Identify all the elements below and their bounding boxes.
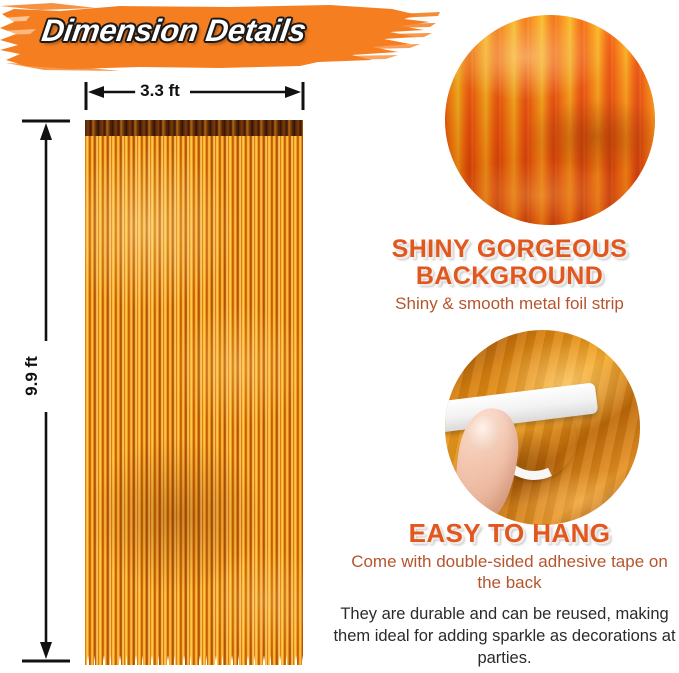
curtain-fringe-strips xyxy=(85,132,303,665)
height-arrow-bottom xyxy=(40,642,52,659)
curtain-top-header-band xyxy=(85,120,303,136)
closing-paragraph: They are durable and can be reused, maki… xyxy=(330,604,679,670)
feature-image-shiny-background xyxy=(445,15,655,225)
feature-title-shiny: SHINY GORGEOUS BACKGROUND xyxy=(340,236,679,290)
feature-column: SHINY GORGEOUS BACKGROUND Shiny & smooth… xyxy=(340,0,679,673)
feature-title-easy-to-hang: EASY TO HANG xyxy=(340,519,679,547)
feature-image-easy-to-hang xyxy=(445,330,640,525)
height-arrow-top xyxy=(40,123,52,140)
width-dimension-label: 3.3 ft xyxy=(135,81,185,101)
product-curtain-image xyxy=(85,120,303,665)
width-arrow-right xyxy=(285,86,301,98)
dimension-diagram: 3.3 ft 9.9 ft xyxy=(0,76,340,673)
feature-subtitle-easy-to-hang: Come with double-sided adhesive tape on … xyxy=(340,552,679,593)
feature-subtitle-shiny: Shiny & smooth metal foil strip xyxy=(340,294,679,315)
width-arrow-left xyxy=(88,86,104,98)
banner-title: Dimension Details xyxy=(39,13,308,49)
height-dimension-label: 9.9 ft xyxy=(18,351,46,401)
foil-sheen-overlay xyxy=(445,15,655,225)
